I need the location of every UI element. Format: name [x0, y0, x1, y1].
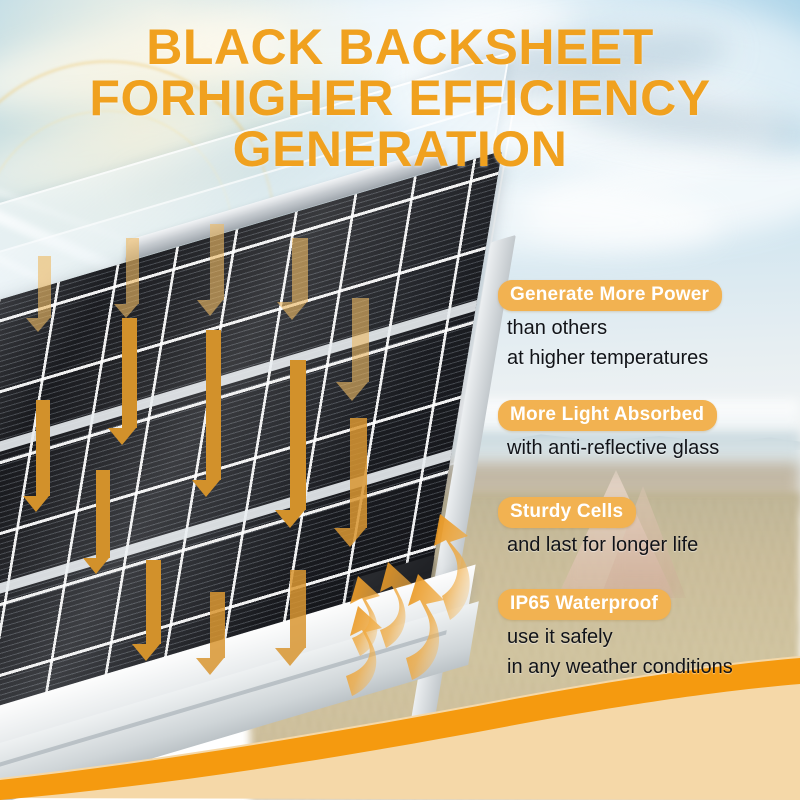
light-arrow-down: [206, 330, 221, 497]
feature-body-line: than others: [507, 315, 798, 341]
light-arrow-down: [96, 470, 110, 574]
feature-body-line: in any weather conditions: [507, 654, 798, 680]
light-arrow-down: [38, 256, 51, 332]
light-arrow-down: [210, 224, 224, 316]
light-arrow-down: [122, 318, 137, 445]
feature-badge: More Light Absorbed: [498, 400, 717, 431]
feature-body-line: with anti-reflective glass: [507, 435, 798, 461]
headline-block: BLACK BACKSHEET FORHIGHER EFFICIENCY GEN…: [0, 22, 800, 175]
feature-badge: Generate More Power: [498, 280, 722, 311]
headline-line-2: FORHIGHER EFFICIENCY: [0, 73, 800, 124]
feature-sturdy-cells: Sturdy Cells and last for longer life: [498, 497, 798, 558]
light-arrow-down: [36, 400, 50, 512]
feature-generate-more-power: Generate More Power than others at highe…: [498, 280, 798, 372]
light-arrow-down: [352, 298, 369, 401]
feature-more-light-absorbed: More Light Absorbed with anti-reflective…: [498, 400, 798, 461]
feature-body-line: use it safely: [507, 624, 798, 650]
headline-line-3: GENERATION: [0, 124, 800, 175]
feature-badge: IP65 Waterproof: [498, 589, 671, 620]
light-arrow-down: [292, 238, 308, 320]
headline-line-1: BLACK BACKSHEET: [0, 22, 800, 73]
heat-arrow: [434, 514, 470, 620]
feature-badge: Sturdy Cells: [498, 497, 636, 528]
feature-body-line: and last for longer life: [507, 532, 798, 558]
feature-ip65-waterproof: IP65 Waterproof use it safely in any wea…: [498, 589, 798, 681]
feature-body-line: at higher temperatures: [507, 345, 798, 371]
feature-callout-list: Generate More Power than others at highe…: [498, 280, 798, 700]
product-infographic: BLACK BACKSHEET FORHIGHER EFFICIENCY GEN…: [0, 0, 800, 800]
light-arrow-down: [126, 238, 139, 318]
